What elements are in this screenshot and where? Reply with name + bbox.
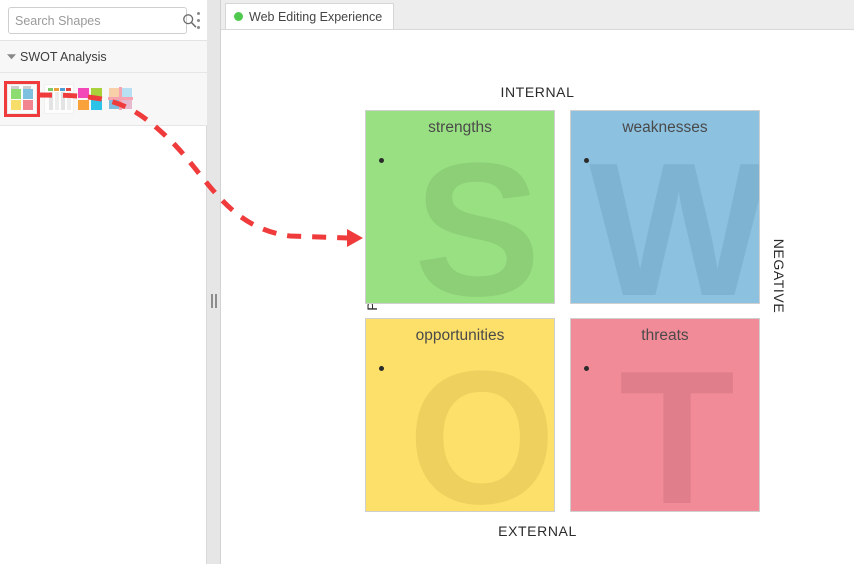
thumb-sq-magenta <box>78 88 89 98</box>
thumb-grid-tl <box>109 88 119 97</box>
swot-grid-cross-thumb <box>105 84 135 114</box>
thumb-sq-orange <box>78 100 89 110</box>
swot-four-square-thumb <box>74 84 104 114</box>
weaknesses-watermark-letter: W <box>589 135 760 304</box>
opportunities-quadrant[interactable]: O opportunities <box>365 318 555 512</box>
thumb-grid-bl <box>109 100 119 109</box>
opportunities-watermark-letter: O <box>408 343 555 512</box>
thumb-cell-green <box>11 89 21 99</box>
tab-web-editing-experience[interactable]: Web Editing Experience <box>225 3 394 29</box>
threats-title: threats <box>571 327 759 345</box>
thumb-cell-yellow <box>11 100 21 110</box>
swot-column-chart-shape[interactable] <box>44 84 74 114</box>
swot-diagram: INTERNAL EXTERNAL POSITIVE NEGATIVE S st… <box>221 0 854 564</box>
kebab-menu-icon[interactable] <box>192 12 204 29</box>
application-window: SWOT Analysis <box>0 0 854 564</box>
threats-quadrant[interactable]: T threats <box>570 318 760 512</box>
swot-four-box-shape[interactable] <box>7 84 37 114</box>
thumb-bar-3 <box>61 92 65 110</box>
axis-label-positive: POSITIVE <box>364 231 380 321</box>
strengths-watermark-letter: S <box>414 135 541 304</box>
weaknesses-quadrant[interactable]: W weaknesses <box>570 110 760 304</box>
thumb-sq-green <box>91 88 102 98</box>
swot-column-chart-thumb <box>44 84 74 114</box>
axis-label-external: EXTERNAL <box>221 523 854 539</box>
search-shapes-box[interactable] <box>8 7 187 34</box>
weaknesses-bullet <box>584 158 589 163</box>
weaknesses-title: weaknesses <box>571 119 759 137</box>
caret-down-icon[interactable] <box>4 50 18 64</box>
search-input[interactable] <box>9 14 182 28</box>
thumb-tab-left <box>11 86 19 89</box>
swot-four-box-thumb <box>7 84 37 114</box>
opportunities-title: opportunities <box>366 327 554 345</box>
tab-bar: Web Editing Experience <box>221 0 854 30</box>
axis-label-negative: NEGATIVE <box>771 231 787 321</box>
strengths-quadrant[interactable]: S strengths <box>365 110 555 304</box>
strengths-bullet <box>379 158 384 163</box>
tab-label: Web Editing Experience <box>249 10 382 24</box>
grip-handle-icon[interactable] <box>211 294 217 308</box>
thumb-grid-tr <box>122 88 132 97</box>
editor-canvas-area: Web Editing Experience INTERNAL EXTERNAL… <box>221 0 854 564</box>
opportunities-bullet <box>379 366 384 371</box>
thumb-grid-hline <box>108 97 133 100</box>
axis-label-internal: INTERNAL <box>221 84 854 100</box>
swot-grid-cross-shape[interactable] <box>105 84 135 114</box>
thumb-sq-cyan <box>91 100 102 110</box>
thumb-bar-2 <box>55 92 59 110</box>
thumb-cell-red <box>23 100 33 110</box>
thumb-bar-cap-1 <box>48 88 53 91</box>
strengths-title: strengths <box>366 119 554 137</box>
threats-bullet <box>584 366 589 371</box>
shapes-sidebar: SWOT Analysis <box>0 0 207 564</box>
thumb-bar-1 <box>49 92 53 110</box>
search-row <box>0 0 207 41</box>
threats-watermark-letter: T <box>619 343 735 512</box>
thumb-bar-cap-2 <box>54 88 59 91</box>
sidebar-splitter[interactable] <box>207 0 221 564</box>
thumb-grid-br <box>122 100 132 109</box>
thumb-bar-cap-3 <box>60 88 65 91</box>
status-dot-icon <box>234 12 243 21</box>
thumb-tab-right <box>23 86 31 89</box>
shapes-palette <box>0 73 207 126</box>
thumb-bar-cap-4 <box>66 88 71 91</box>
sidebar-section-swot-analysis[interactable]: SWOT Analysis <box>0 41 207 73</box>
sidebar-section-label: SWOT Analysis <box>20 50 107 64</box>
swot-four-square-shape[interactable] <box>74 84 104 114</box>
thumb-cell-blue <box>23 89 33 99</box>
thumb-bar-4 <box>67 92 71 110</box>
